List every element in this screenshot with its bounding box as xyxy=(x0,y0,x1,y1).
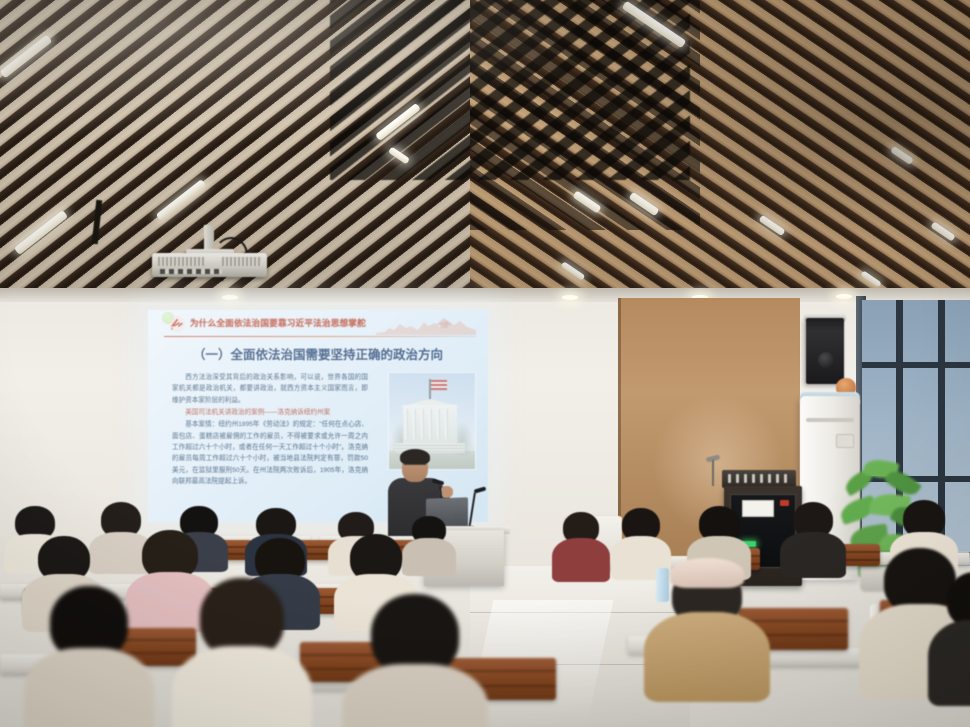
building-column xyxy=(429,409,432,439)
person-torso xyxy=(644,612,770,702)
microphone-stand xyxy=(712,460,714,486)
lecture-hall-photo: 为什么全面依法治国要靠习近平法治思想掌舵 （一）全面依法治国需要坚持正确的政治方… xyxy=(0,0,970,727)
person-torso xyxy=(342,664,488,727)
building-column xyxy=(421,409,424,439)
projector-vent xyxy=(222,257,262,266)
wall-speaker xyxy=(806,318,844,384)
audience-member xyxy=(182,578,302,727)
red-skyline-decoration-icon xyxy=(376,313,476,335)
projector-ports xyxy=(160,269,222,274)
slide-paragraph: 美国司法机关讲政治的案例——洛克纳诉纽约州案 xyxy=(172,407,368,418)
slide-paragraph: 西方法治深受其背后的政治关系影响，可以说，世界各国的国家机关都是政治机关，都要讲… xyxy=(172,372,368,406)
mixer-fader[interactable] xyxy=(768,474,771,483)
audience-member xyxy=(554,512,608,572)
mixer-fader[interactable] xyxy=(784,474,787,483)
projector-vent xyxy=(158,257,204,266)
mixer-fader[interactable] xyxy=(776,474,779,483)
building-column xyxy=(437,409,440,439)
audience-member xyxy=(352,594,478,727)
party-emblem-icon xyxy=(168,315,186,333)
building-column xyxy=(445,409,448,439)
ceiling-soffit xyxy=(0,288,970,302)
recessed-downlight xyxy=(222,295,238,300)
ac-control-panel[interactable] xyxy=(836,434,854,448)
mixer-fader[interactable] xyxy=(728,474,731,483)
mixer-fader[interactable] xyxy=(752,474,755,483)
slide-header-bar: 为什么全面依法治国要靠习近平法治思想掌舵 xyxy=(148,310,488,338)
slide-subtitle: （一）全面依法治国需要坚持正确的政治方向 xyxy=(148,344,488,363)
slide-body-text: 西方法治深受其背后的政治关系影响，可以说，世界各国的国家机关都是政治机关，都要讲… xyxy=(172,372,368,488)
mixer-fader[interactable] xyxy=(744,474,747,483)
baseball-cap-icon xyxy=(670,558,744,588)
slide-header-divider xyxy=(164,336,476,337)
mixer-fader[interactable] xyxy=(760,474,763,483)
slatted-ceiling xyxy=(0,0,970,300)
recessed-downlight xyxy=(836,294,852,299)
person-torso xyxy=(172,646,312,727)
mixer-fader[interactable] xyxy=(736,474,739,483)
presenter-glasses-icon xyxy=(404,464,426,469)
audience-member xyxy=(936,572,970,692)
recessed-downlight xyxy=(562,295,578,300)
audience-member xyxy=(784,502,842,568)
ceiling-projector xyxy=(152,243,267,277)
building-column xyxy=(405,409,408,439)
ac-vent xyxy=(806,418,854,422)
us-flag-icon xyxy=(431,380,447,390)
presenter-hair xyxy=(400,449,430,465)
person-torso xyxy=(552,538,610,582)
speaker-cone-icon xyxy=(818,352,834,368)
audience-member xyxy=(34,586,144,727)
person-torso xyxy=(24,648,154,727)
person-torso xyxy=(780,532,846,578)
slide-paragraph: 基本案情：纽约州1895年《劳动法》的规定："任何在点心店、面包店、蛋糕店被雇佣… xyxy=(172,419,368,487)
audience-member-with-cap xyxy=(652,558,762,678)
building-column xyxy=(413,409,416,439)
window-transom xyxy=(862,362,970,368)
